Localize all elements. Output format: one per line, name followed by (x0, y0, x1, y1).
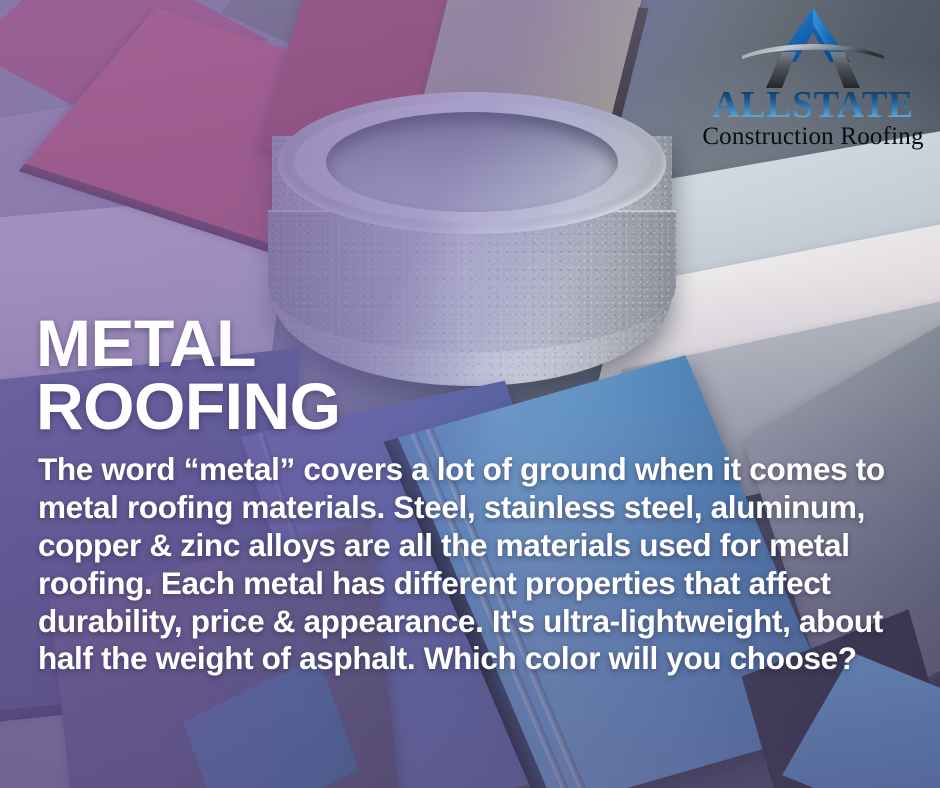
logo-tagline: Construction Roofing (694, 124, 932, 150)
metal-roofing-poster: ALLSTATE Construction Roofing METAL ROOF… (0, 0, 940, 788)
headline-line-2: ROOFING (36, 375, 904, 438)
coil-core-hole (326, 112, 618, 212)
allstate-logo: ALLSTATE Construction Roofing (694, 6, 932, 150)
allstate-a-monogram-icon (738, 6, 888, 90)
body-copy: The word “metal” covers a lot of ground … (38, 451, 896, 678)
page-title: METAL ROOFING (36, 312, 904, 437)
logo-wordmark: ALLSTATE (694, 86, 932, 124)
poster-text-block: METAL ROOFING The word “metal” covers a … (36, 312, 904, 678)
